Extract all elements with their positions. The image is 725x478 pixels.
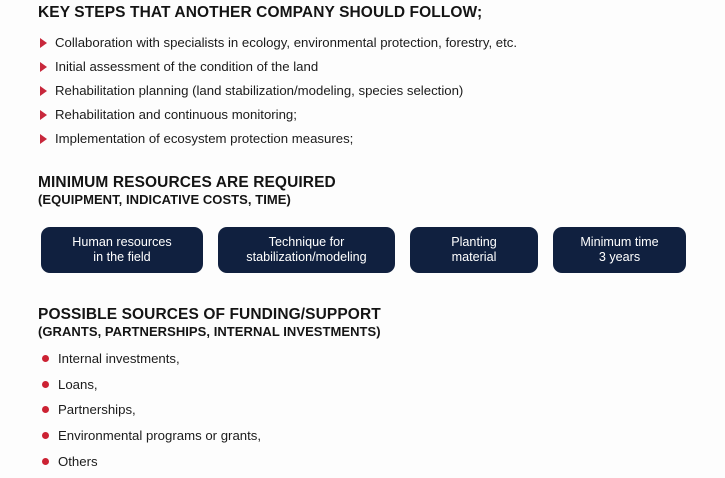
dot-icon [42, 355, 49, 362]
list-item: Environmental programs or grants, [38, 427, 698, 444]
section-minimum-resources: MINIMUM RESOURCES ARE REQUIRED (EQUIPMEN… [38, 174, 698, 208]
list-item: Partnerships, [38, 401, 698, 418]
list-item: Implementation of ecosystem protection m… [38, 130, 698, 147]
list-item-label: Initial assessment of the condition of t… [55, 59, 318, 74]
list-item-label: Rehabilitation and continuous monitoring… [55, 107, 297, 122]
dot-icon [42, 406, 49, 413]
list-item-label: Environmental programs or grants, [58, 428, 261, 443]
key-steps-list: Collaboration with specialists in ecolog… [38, 34, 698, 147]
resources-heading: MINIMUM RESOURCES ARE REQUIRED [38, 174, 698, 191]
list-item: Rehabilitation planning (land stabilizat… [38, 82, 698, 99]
section-funding-sources: POSSIBLE SOURCES OF FUNDING/SUPPORT (GRA… [38, 306, 698, 340]
list-item-label: Rehabilitation planning (land stabilizat… [55, 83, 463, 98]
list-item-label: Implementation of ecosystem protection m… [55, 131, 353, 146]
triangle-right-icon [40, 110, 47, 120]
section-key-steps: KEY STEPS THAT ANOTHER COMPANY SHOULD FO… [38, 4, 698, 154]
resource-pill-row: Human resourcesin the field Technique fo… [41, 227, 689, 273]
triangle-right-icon [40, 86, 47, 96]
list-item-label: Internal investments, [58, 351, 180, 366]
resource-pill: Minimum time3 years [553, 227, 686, 273]
list-item-label: Loans, [58, 377, 98, 392]
list-item: Rehabilitation and continuous monitoring… [38, 106, 698, 123]
list-item: Others [38, 453, 698, 470]
list-item: Collaboration with specialists in ecolog… [38, 34, 698, 51]
resource-pill: Plantingmaterial [410, 227, 538, 273]
slide-root: KEY STEPS THAT ANOTHER COMPANY SHOULD FO… [0, 0, 725, 460]
list-item-label: Collaboration with specialists in ecolog… [55, 35, 517, 50]
resources-subheading: (EQUIPMENT, INDICATIVE COSTS, TIME) [38, 193, 698, 208]
dot-icon [42, 458, 49, 465]
resource-pill: Human resourcesin the field [41, 227, 203, 273]
funding-subheading: (GRANTS, PARTNERSHIPS, INTERNAL INVESTME… [38, 325, 698, 340]
triangle-right-icon [40, 134, 47, 144]
list-item-label: Partnerships, [58, 402, 136, 417]
resource-pill: Technique forstabilization/modeling [218, 227, 395, 273]
triangle-right-icon [40, 38, 47, 48]
list-item: Internal investments, [38, 350, 698, 367]
dot-icon [42, 381, 49, 388]
dot-icon [42, 432, 49, 439]
funding-heading: POSSIBLE SOURCES OF FUNDING/SUPPORT [38, 306, 698, 323]
key-steps-heading: KEY STEPS THAT ANOTHER COMPANY SHOULD FO… [38, 4, 698, 21]
list-item: Initial assessment of the condition of t… [38, 58, 698, 75]
triangle-right-icon [40, 62, 47, 72]
list-item-label: Others [58, 454, 98, 469]
list-item: Loans, [38, 376, 698, 393]
funding-list: Internal investments, Loans, Partnership… [38, 350, 698, 478]
